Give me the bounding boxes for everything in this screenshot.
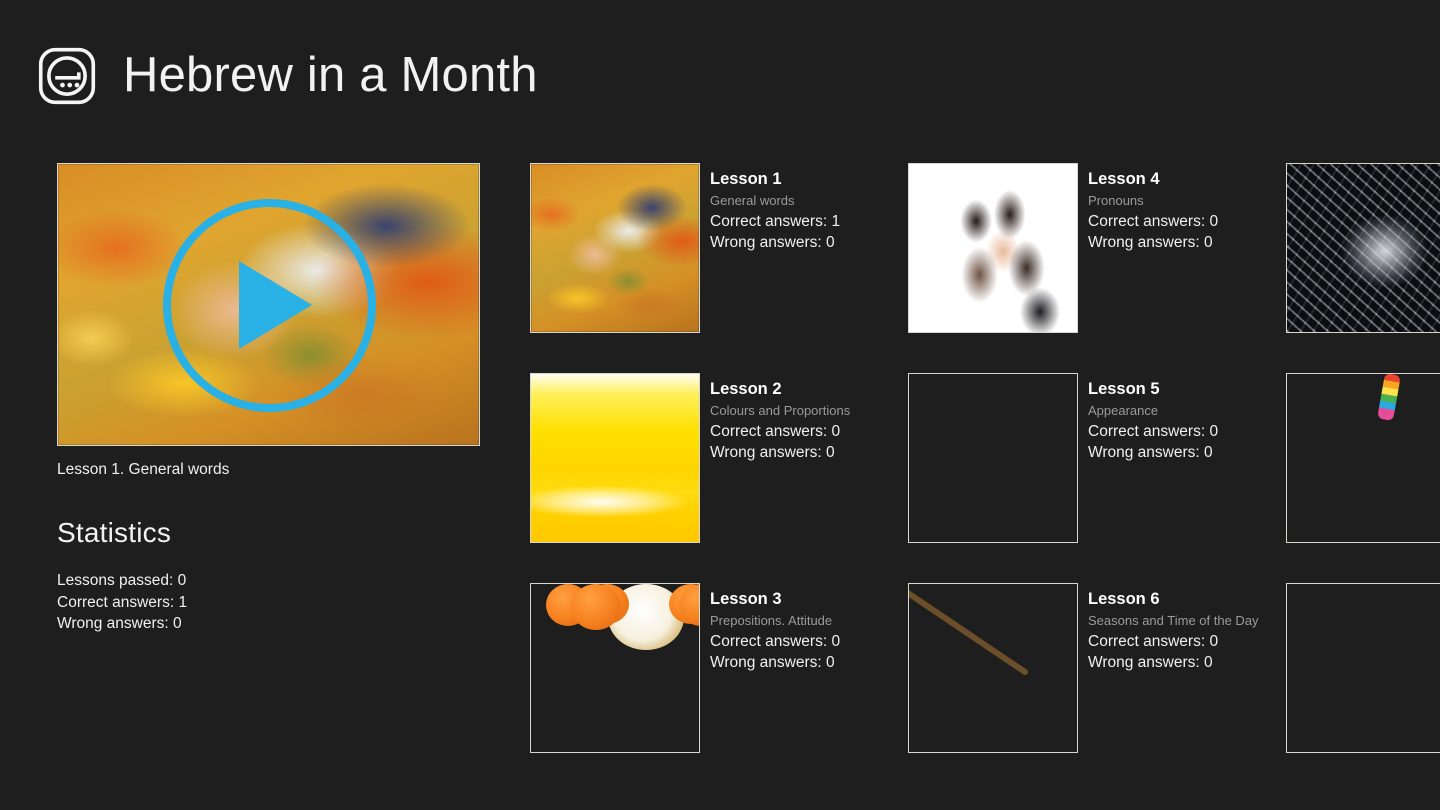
lesson-wrong-answers: Wrong answers: 0 — [710, 652, 840, 673]
lesson-wrong-answers: Wrong answers: 0 — [1088, 652, 1259, 673]
lesson-name: Lesson 1 — [710, 169, 840, 190]
lesson-correct-answers: Correct answers: 1 — [710, 211, 840, 232]
lesson-thumbnail-image — [531, 374, 699, 542]
lesson-name: Lesson 6 — [1088, 589, 1259, 610]
play-triangle-icon — [239, 261, 312, 349]
stat-wrong-answers: Wrong answers: 0 — [57, 613, 481, 635]
lesson-thumbnail[interactable] — [530, 163, 700, 333]
statistics-list: Lessons passed: 0 Correct answers: 1 Wro… — [57, 570, 481, 635]
lesson-info: Lesson 5AppearanceCorrect answers: 0Wron… — [1078, 373, 1218, 463]
lesson-correct-answers: Correct answers: 0 — [710, 631, 840, 652]
lesson-thumbnail-image — [909, 164, 1077, 332]
lesson-card[interactable] — [1286, 373, 1440, 543]
lesson-grid: Lesson 1General wordsCorrect answers: 1W… — [530, 163, 1440, 753]
lesson-info: Lesson 6Seasons and Time of the DayCorre… — [1078, 583, 1259, 673]
lesson-thumbnail[interactable] — [1286, 163, 1440, 333]
lesson-correct-answers: Correct answers: 0 — [710, 421, 850, 442]
app-logo-icon — [38, 47, 96, 105]
lesson-correct-answers: Correct answers: 0 — [1088, 631, 1259, 652]
app-header: Hebrew in a Month — [0, 0, 1440, 150]
statistics-heading: Statistics — [57, 517, 481, 549]
left-panel: Lesson 1. General words Statistics Lesso… — [57, 163, 481, 635]
lesson-name: Lesson 4 — [1088, 169, 1218, 190]
hero-video-player[interactable] — [57, 163, 480, 446]
lesson-name: Lesson 3 — [710, 589, 840, 610]
lesson-name: Lesson 5 — [1088, 379, 1218, 400]
lesson-thumbnail[interactable] — [908, 583, 1078, 753]
lesson-wrong-answers: Wrong answers: 0 — [1088, 232, 1218, 253]
lesson-card[interactable] — [1286, 163, 1440, 333]
lesson-thumbnail[interactable] — [1286, 373, 1440, 543]
lesson-thumbnail-image — [1287, 164, 1440, 332]
lesson-info: Lesson 1General wordsCorrect answers: 1W… — [700, 163, 840, 253]
lesson-subtitle: Colours and Proportions — [710, 400, 850, 421]
lesson-card[interactable]: Lesson 1General wordsCorrect answers: 1W… — [530, 163, 908, 333]
lesson-thumbnail[interactable] — [1286, 583, 1440, 753]
lesson-wrong-answers: Wrong answers: 0 — [710, 442, 850, 463]
lesson-thumbnail-image — [531, 164, 699, 332]
lesson-subtitle: General words — [710, 190, 840, 211]
stat-lessons-passed: Lessons passed: 0 — [57, 570, 481, 592]
lesson-correct-answers: Correct answers: 0 — [1088, 211, 1218, 232]
play-button-icon[interactable] — [163, 199, 376, 412]
lesson-subtitle: Appearance — [1088, 400, 1218, 421]
lesson-info: Lesson 4PronounsCorrect answers: 0Wrong … — [1078, 163, 1218, 253]
lesson-card[interactable]: Lesson 3Prepositions. AttitudeCorrect an… — [530, 583, 908, 753]
lesson-card[interactable] — [1286, 583, 1440, 753]
hero-caption: Lesson 1. General words — [57, 461, 481, 479]
lesson-thumbnail[interactable] — [530, 373, 700, 543]
lesson-info: Lesson 3Prepositions. AttitudeCorrect an… — [700, 583, 840, 673]
lesson-thumbnail[interactable] — [908, 373, 1078, 543]
lesson-subtitle: Pronouns — [1088, 190, 1218, 211]
lesson-name: Lesson 2 — [710, 379, 850, 400]
lesson-thumbnail[interactable] — [908, 163, 1078, 333]
lesson-card[interactable]: Lesson 6Seasons and Time of the DayCorre… — [908, 583, 1286, 753]
page-title: Hebrew in a Month — [123, 51, 538, 100]
stat-correct-answers: Correct answers: 1 — [57, 592, 481, 614]
lesson-thumbnail[interactable] — [530, 583, 700, 753]
lesson-card[interactable]: Lesson 5AppearanceCorrect answers: 0Wron… — [908, 373, 1286, 543]
lesson-card[interactable]: Lesson 4PronounsCorrect answers: 0Wrong … — [908, 163, 1286, 333]
lesson-wrong-answers: Wrong answers: 0 — [710, 232, 840, 253]
orange-shape — [571, 584, 621, 630]
lesson-card[interactable]: Lesson 2Colours and ProportionsCorrect a… — [530, 373, 908, 543]
lesson-subtitle: Seasons and Time of the Day — [1088, 610, 1259, 631]
lesson-wrong-answers: Wrong answers: 0 — [1088, 442, 1218, 463]
lesson-correct-answers: Correct answers: 0 — [1088, 421, 1218, 442]
lesson-subtitle: Prepositions. Attitude — [710, 610, 840, 631]
lesson-info: Lesson 2Colours and ProportionsCorrect a… — [700, 373, 850, 463]
